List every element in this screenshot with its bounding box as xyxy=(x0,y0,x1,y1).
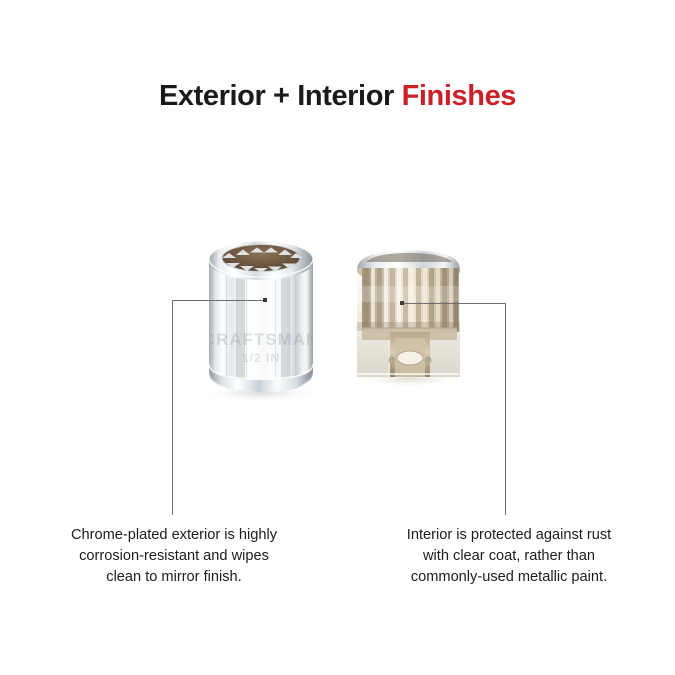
svg-text:CRAFTSMAN: CRAFTSMAN xyxy=(203,330,320,349)
interior-caption-line-2: with clear coat, rather than xyxy=(380,546,638,567)
socket-interior-cutaway xyxy=(351,250,467,388)
interior-caption-line-1: Interior is protected against rust xyxy=(380,525,638,546)
leader-left-vertical xyxy=(172,300,173,515)
exterior-caption-line-2: corrosion-resistant and wipes xyxy=(40,546,308,567)
leader-right-endpoint-dot xyxy=(400,301,404,305)
leader-right-horizontal xyxy=(402,303,505,304)
title-text: Exterior + Interior Finishes xyxy=(0,82,675,111)
leader-left-endpoint-dot xyxy=(263,298,267,302)
page-title: Exterior + Interior Finishes xyxy=(0,82,675,111)
exterior-caption-line-3: clean to mirror finish. xyxy=(40,567,308,588)
socket-exterior-chrome: CRAFTSMAN 1/2 IN xyxy=(199,241,323,403)
leader-right-vertical xyxy=(505,303,506,515)
product-infographic: Exterior + Interior Finishes xyxy=(0,0,675,675)
title-plain-part: Exterior + Interior xyxy=(159,80,402,112)
svg-text:1/2 IN: 1/2 IN xyxy=(242,351,280,365)
title-accent-part: Finishes xyxy=(402,80,516,112)
interior-caption: Interior is protected against rust with … xyxy=(380,525,638,588)
interior-caption-line-3: commonly-used metallic paint. xyxy=(380,567,638,588)
leader-left-horizontal xyxy=(172,300,265,301)
exterior-caption: Chrome-plated exterior is highly corrosi… xyxy=(40,525,308,588)
exterior-caption-line-1: Chrome-plated exterior is highly xyxy=(40,525,308,546)
